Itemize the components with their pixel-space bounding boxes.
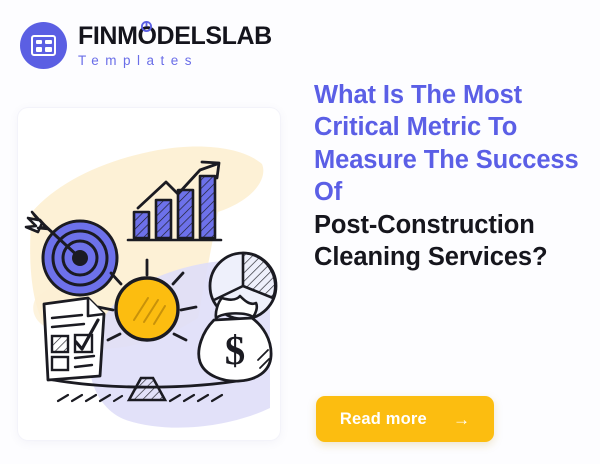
headline-question: What Is The Most Critical Metric To Meas… (314, 79, 586, 209)
promo-card: FINMODELSLAB Templates (0, 0, 600, 464)
read-more-label: Read more (340, 410, 427, 429)
brand-name-label: FINMODELSLAB (78, 22, 272, 50)
svg-text:$: $ (225, 327, 246, 373)
read-more-button[interactable]: Read more → (316, 396, 494, 442)
brand-subtitle: Templates (78, 54, 272, 68)
analytics-illustration: $ (18, 108, 280, 440)
checklist-document-icon (44, 298, 104, 380)
brand-name: FINMODELSLAB (78, 24, 272, 49)
brand-text: FINMODELSLAB Templates (78, 24, 272, 68)
logo-mark (20, 22, 67, 69)
headline-subject: Post-Construction Cleaning Services? (314, 209, 586, 274)
grid-squares-icon (31, 35, 56, 56)
illustration-card: $ (18, 108, 280, 440)
arrow-right-icon: → (453, 411, 470, 428)
page-title: What Is The Most Critical Metric To Meas… (314, 79, 586, 273)
brand-lockup[interactable]: FINMODELSLAB Templates (20, 22, 272, 69)
